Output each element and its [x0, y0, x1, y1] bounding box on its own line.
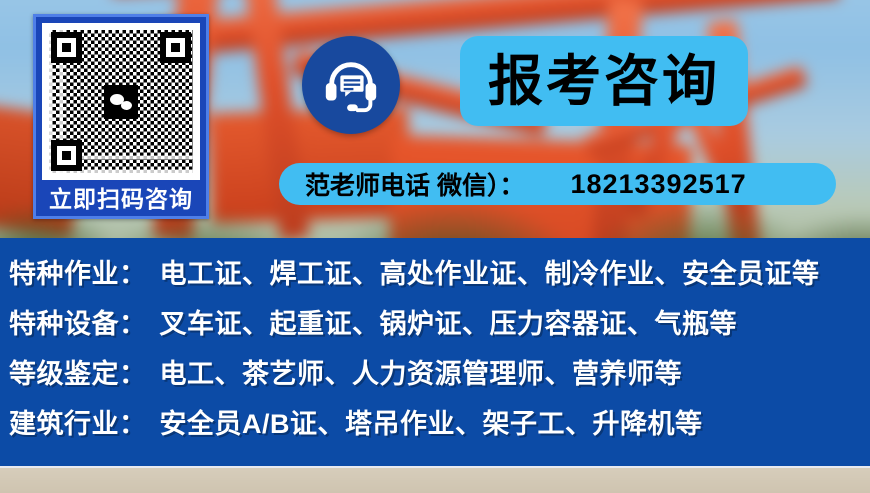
bottom-photo-strip: [0, 466, 870, 493]
qr-finder-bottomleft: [51, 140, 82, 171]
certificate-list-panel: 特种作业： 电工证、焊工证、高处作业证、制冷作业、安全员证等 特种设备： 叉车证…: [0, 238, 870, 466]
title-badge: 报考咨询: [460, 36, 748, 126]
wechat-qr-code-icon: [49, 30, 193, 173]
qr-caption: 立即扫码咨询: [42, 180, 200, 218]
contact-phone-number[interactable]: 18213392517: [570, 169, 746, 200]
certificate-items: 电工证、焊工证、高处作业证、制冷作业、安全员证等: [160, 252, 820, 291]
certificate-row: 等级鉴定： 电工、茶艺师、人力资源管理师、营养师等: [9, 352, 870, 402]
panel-divider: [0, 466, 870, 468]
qr-code-card[interactable]: 立即扫码咨询: [33, 14, 209, 219]
certificate-category: 特种作业：: [9, 252, 147, 291]
certificate-category: 特种设备：: [9, 302, 147, 341]
certificate-row: 建筑行业： 安全员A/B证、塔吊作业、架子工、升降机等: [9, 402, 870, 452]
qr-finder-topleft: [51, 32, 82, 63]
headset-badge: [302, 36, 400, 134]
qr-finder-topright: [160, 32, 191, 63]
page-title: 报考咨询: [488, 54, 720, 109]
contact-label: 范老师电话 微信）：: [305, 166, 524, 202]
contact-bar[interactable]: 范老师电话 微信）： 18213392517: [279, 163, 836, 205]
wechat-logo-icon: [104, 85, 138, 119]
certificate-category: 建筑行业：: [9, 402, 147, 441]
certificate-items: 安全员A/B证、塔吊作业、架子工、升降机等: [160, 402, 703, 441]
certificate-row: 特种设备： 叉车证、起重证、锅炉证、压力容器证、气瓶等: [9, 302, 870, 352]
certificate-category: 等级鉴定：: [9, 352, 147, 391]
certificate-items: 叉车证、起重证、锅炉证、压力容器证、气瓶等: [160, 302, 738, 341]
bottom-photo-blur: [0, 466, 870, 493]
promo-poster: 立即扫码咨询 报考咨询 范老师电话 微信）： 18213392517 特种作业：…: [0, 0, 870, 493]
wechat-bubbles-icon: [110, 94, 132, 110]
qr-code-frame: [42, 23, 200, 180]
headset-support-icon: [320, 54, 382, 116]
certificate-row: 特种作业： 电工证、焊工证、高处作业证、制冷作业、安全员证等: [9, 252, 870, 302]
certificate-items: 电工、茶艺师、人力资源管理师、营养师等: [160, 352, 683, 391]
